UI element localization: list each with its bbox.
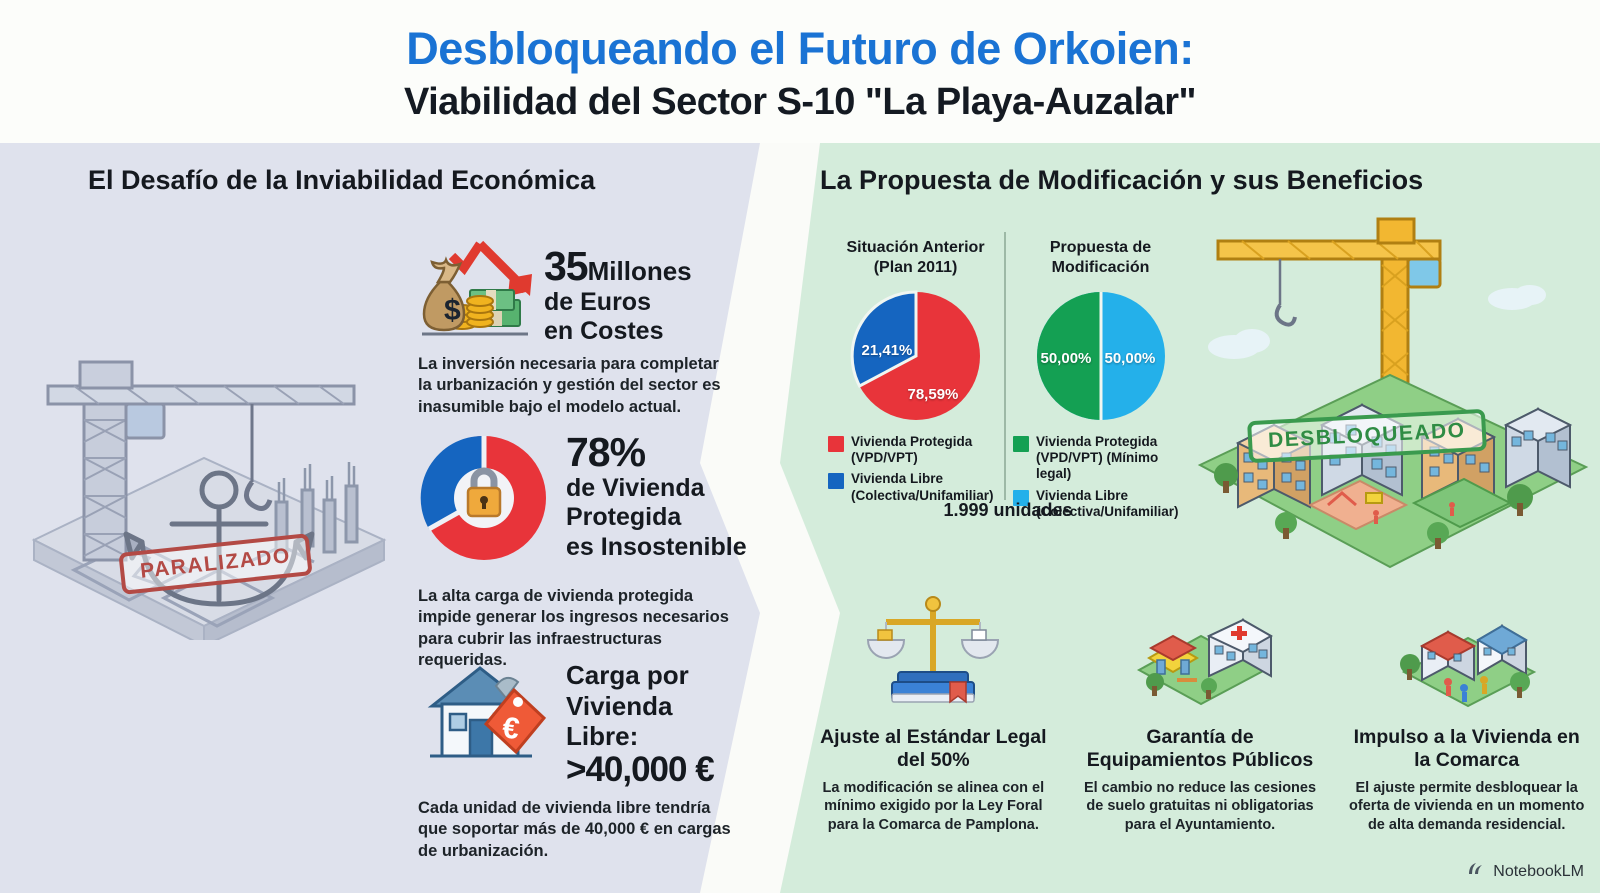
- legend-label-libre: Vivienda Libre (Colectiva/Unifamiliar): [851, 471, 994, 503]
- total-units-label: 1.999 unidades: [828, 500, 1188, 521]
- legend-swatch-libre: [828, 473, 844, 489]
- scales-of-justice-icon: [858, 590, 1008, 720]
- chart-a-label-libre: 21,41%: [862, 342, 913, 359]
- unlocked-development-illustration: [1190, 175, 1590, 575]
- chart-b-title: Propuesta de Modificación: [1013, 238, 1188, 282]
- chart-b-pie: 50,00% 50,00%: [1035, 290, 1167, 422]
- house-price-tag-icon: €: [418, 652, 558, 770]
- benefit-card: Garantía de Equipamientos Públicos El ca…: [1067, 590, 1334, 880]
- stat-free-housing-burden: € Carga por Vivienda Libre: >40,000 € Ca…: [418, 652, 748, 862]
- legend-item: Vivienda Protegida (VPD/VPT): [828, 434, 1003, 466]
- padlock-donut-icon: [418, 424, 558, 574]
- notebooklm-logo-icon: [1466, 860, 1486, 883]
- benefit-title: Ajuste al Estándar Legal del 50%: [810, 726, 1057, 773]
- infographic-page: Desbloqueando el Futuro de Orkoien: Viab…: [0, 0, 1600, 893]
- footer-brand: NotebookLM: [1466, 860, 1584, 883]
- legend-label-line1: Vivienda Protegida: [851, 434, 972, 449]
- benefit-title: Impulso a la Vivienda en la Comarca: [1343, 726, 1590, 773]
- stat-costs-description: La inversión necesaria para completar la…: [418, 354, 736, 418]
- chart-a-label-protegida: 78,59%: [908, 386, 959, 403]
- stat-costs: $ 35Millones de Euros en Costes La inver…: [418, 238, 748, 418]
- stat-costs-value: 35: [544, 243, 588, 289]
- stat-protected-value: 78%: [566, 432, 747, 474]
- benefit-card: Ajuste al Estándar Legal del 50% La modi…: [800, 590, 1067, 880]
- stat-burden-description: Cada unidad de vivienda libre tendría qu…: [418, 798, 736, 862]
- public-facilities-icon: [1125, 590, 1275, 720]
- page-title-main: Desbloqueando el Futuro de Orkoien:: [0, 22, 1600, 77]
- chart-propuesta-modificacion: Propuesta de Modificación 50,00% 50,00% …: [1013, 238, 1188, 525]
- stat-costs-line2: de Euros: [544, 288, 692, 318]
- stat-costs-unit: Millones: [588, 256, 692, 286]
- money-bag-icon: $: [418, 238, 536, 346]
- benefits-row: Ajuste al Estándar Legal del 50% La modi…: [800, 590, 1600, 880]
- svg-text:$: $: [444, 294, 461, 327]
- legend-label-line2: (VPD/VPT) (Mínimo legal): [1036, 450, 1158, 481]
- benefit-description: El ajuste permite desbloquear la oferta …: [1343, 779, 1590, 835]
- chart-b-label-protegida: 50,00%: [1041, 350, 1092, 367]
- stat-burden-value: >40,000 €: [566, 752, 748, 788]
- stat-burden-line1: Carga por: [566, 660, 748, 691]
- stat-protected-line3: Protegida: [566, 503, 747, 533]
- chart-a-title-line1: Situación Anterior: [828, 238, 1003, 258]
- chart-a-legend: Vivienda Protegida (VPD/VPT) Vivienda Li…: [828, 434, 1003, 504]
- page-title-sub: Viabilidad del Sector S-10 "La Playa-Auz…: [0, 79, 1600, 127]
- legend-label-protegida: Vivienda Protegida (VPD/VPT): [851, 434, 972, 466]
- stat-protected-line4: es Insostenible: [566, 533, 747, 563]
- legend-swatch-protegida: [828, 436, 844, 452]
- chart-a-title: Situación Anterior (Plan 2011): [828, 238, 1003, 282]
- chart-b-label-libre: 50,00%: [1105, 350, 1156, 367]
- legend-label-line2: (VPD/VPT): [851, 450, 918, 465]
- footer-brand-label: NotebookLM: [1493, 863, 1584, 881]
- benefit-description: El cambio no reduce las cesiones de suel…: [1077, 779, 1324, 835]
- benefit-description: La modificación se alinea con el mínimo …: [810, 779, 1057, 835]
- legend-item: Vivienda Libre (Colectiva/Unifamiliar): [828, 471, 1003, 503]
- neighborhood-icon: [1392, 590, 1542, 720]
- legend-label-line1: Vivienda Libre: [851, 471, 943, 486]
- chart-situacion-anterior: Situación Anterior (Plan 2011) 21,41% 78…: [828, 238, 1003, 509]
- title-bar: Desbloqueando el Futuro de Orkoien: Viab…: [0, 0, 1600, 143]
- chart-a-pie: 21,41% 78,59%: [850, 290, 982, 422]
- legend-label-line1: Vivienda Protegida: [1036, 434, 1157, 449]
- stat-costs-line3: en Costes: [544, 317, 692, 347]
- stat-burden-line2: Vivienda Libre:: [566, 691, 748, 752]
- benefit-title: Garantía de Equipamientos Públicos: [1077, 726, 1324, 773]
- legend-label-protegida: Vivienda Protegida (VPD/VPT) (Mínimo leg…: [1036, 434, 1188, 483]
- stat-protected-housing: 78% de Vivienda Protegida es Insostenibl…: [418, 424, 748, 672]
- chart-a-title-line2: (Plan 2011): [828, 258, 1003, 278]
- legend-item: Vivienda Protegida (VPD/VPT) (Mínimo leg…: [1013, 434, 1188, 483]
- chart-divider: [1004, 232, 1006, 500]
- chart-b-title-line2: Modificación: [1013, 258, 1188, 278]
- benefit-card: Impulso a la Vivienda en la Comarca El a…: [1333, 590, 1600, 880]
- stat-protected-line2: de Vivienda: [566, 474, 747, 504]
- chart-b-title-line1: Propuesta de: [1013, 238, 1188, 258]
- legend-swatch-protegida: [1013, 436, 1029, 452]
